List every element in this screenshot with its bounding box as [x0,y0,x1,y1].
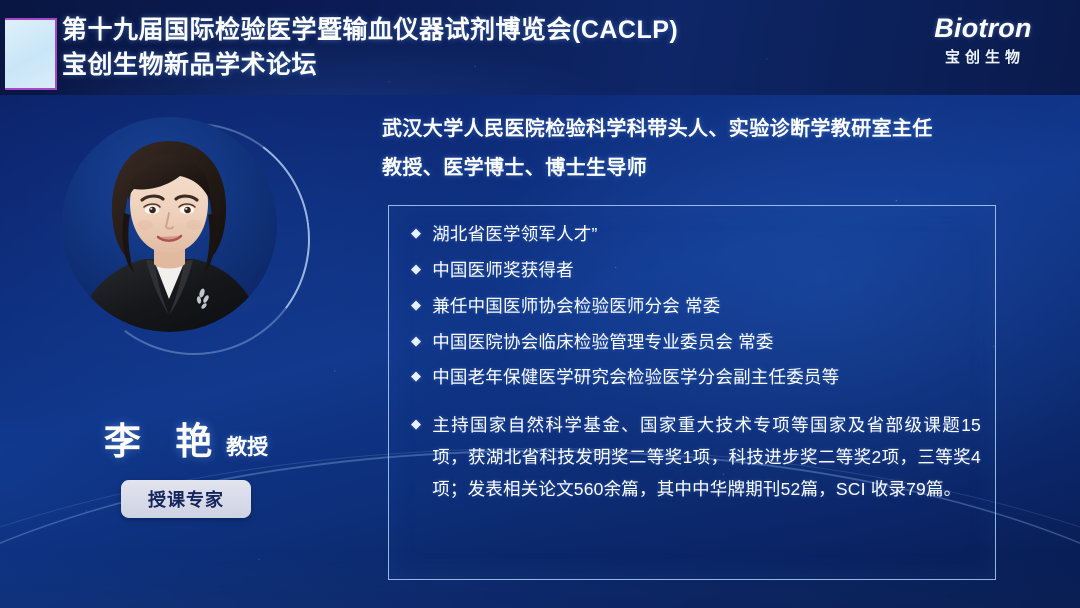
intro-line-1: 武汉大学人民医院检验科学科带头人、实验诊断学教研室主任 [382,110,1042,149]
diamond-bullet-icon: ◆ [411,258,421,281]
credentials-box: ◆ 湖北省医学领军人才” ◆ 中国医师奖获得者 ◆ 兼任中国医师协会检验医师分会… [388,205,996,580]
brand-subtitle-text: 宝创生物 [912,46,1058,67]
list-item-label: 中国医院协会临床检验管理专业委员会 常委 [432,330,773,355]
list-item: ◆ 兼任中国医师协会检验医师分会 常委 [403,294,981,319]
diamond-bullet-icon: ◆ [411,410,421,439]
slide-root: 第十九届国际检验医学暨输血仪器试剂博览会(CACLP) 宝创生物新品学术论坛 B… [0,0,1080,608]
event-title-line-1: 第十九届国际检验医学暨输血仪器试剂博览会(CACLP) [62,16,678,46]
intro-line-2: 教授、医学博士、博士生导师 [382,149,1042,188]
diamond-bullet-icon: ◆ [411,365,421,388]
event-title-line-2: 宝创生物新品学术论坛 [62,51,678,81]
speaker-panel: 李 艳教授 授课专家 [0,95,372,608]
list-item: ◆ 主持国家自然科学基金、国家重大技术专项等国家及省部级课题15项，获湖北省科技… [403,410,981,506]
list-item-label: 湖北省医学领军人才” [432,222,597,247]
speaker-academic-title-text: 教授 [226,436,268,459]
intro-heading-group: 武汉大学人民医院检验科学科带头人、实验诊断学教研室主任 教授、医学博士、博士生导… [382,110,1042,188]
brand-name-text: Biotron [908,14,1058,42]
list-item: ◆ 中国医师奖获得者 [403,258,981,283]
list-item: ◆ 中国医院协会临床检验管理专业委员会 常委 [403,330,981,355]
list-item: ◆ 中国老年保健医学研究会检验医学分会副主任委员等 [403,365,981,390]
header-bar: 第十九届国际检验医学暨输血仪器试剂博览会(CACLP) 宝创生物新品学术论坛 B… [0,0,1080,95]
list-item-label: 中国老年保健医学研究会检验医学分会副主任委员等 [432,365,839,390]
research-achievements-text: 主持国家自然科学基金、国家重大技术专项等国家及省部级课题15项，获湖北省科技发明… [432,410,981,506]
list-item-label: 中国医师奖获得者 [432,258,574,283]
speaker-name-text: 李 艳 [104,421,224,462]
header-accent-mark-icon [5,18,57,90]
diamond-bullet-icon: ◆ [411,330,421,353]
speaker-portrait-photo [62,117,277,332]
research-achievements-block: ◆ 主持国家自然科学基金、国家重大技术专项等国家及省部级课题15项，获湖北省科技… [403,410,981,506]
diamond-bullet-icon: ◆ [411,294,421,317]
list-item-label: 兼任中国医师协会检验医师分会 常委 [432,294,720,319]
brand-logo: Biotron 宝创生物 [908,14,1058,67]
credentials-list: ◆ 湖北省医学领军人才” ◆ 中国医师奖获得者 ◆ 兼任中国医师协会检验医师分会… [403,222,981,390]
header-title-group: 第十九届国际检验医学暨输血仪器试剂博览会(CACLP) 宝创生物新品学术论坛 [62,16,678,80]
status-badge: 授课专家 [121,480,251,518]
speaker-name-block: 李 艳教授 [0,411,372,465]
list-item: ◆ 湖北省医学领军人才” [403,222,981,247]
diamond-bullet-icon: ◆ [411,222,421,245]
